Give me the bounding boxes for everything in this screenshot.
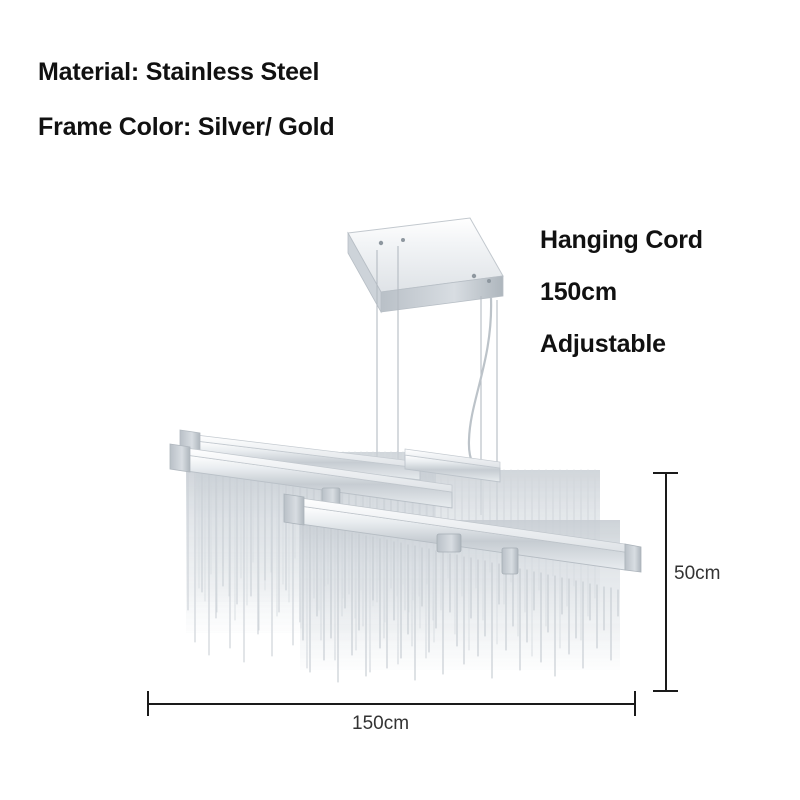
chrome-rail-mid bbox=[170, 444, 452, 522]
frame-color-spec-text: Frame Color: Silver/ Gold bbox=[38, 113, 334, 142]
crystal-curtain-right-back bbox=[410, 470, 600, 656]
rail-connector-block-mid bbox=[322, 488, 340, 522]
power-cord bbox=[469, 298, 491, 476]
product-image-canvas: Material: Stainless Steel Frame Color: S… bbox=[0, 0, 800, 800]
hanging-cord-label-line2: 150cm bbox=[540, 278, 617, 307]
hanging-cord-label-line3: Adjustable bbox=[540, 330, 666, 359]
rail-end-cap-right-front bbox=[625, 544, 641, 572]
width-dimension-label: 150cm bbox=[352, 713, 409, 735]
width-dimension-cap-left bbox=[147, 691, 149, 716]
width-dimension-cap-right bbox=[634, 691, 636, 716]
width-dimension-line bbox=[147, 703, 636, 705]
chrome-rail-upper-right bbox=[405, 449, 500, 482]
ceiling-canopy bbox=[348, 218, 503, 312]
rail-end-cap-left-back bbox=[180, 430, 200, 455]
crystal-curtain-front bbox=[300, 520, 620, 682]
chrome-rail-front bbox=[284, 494, 641, 574]
chrome-rail-back bbox=[180, 430, 420, 480]
hanging-cord-label-line1: Hanging Cord bbox=[540, 226, 703, 255]
rail-end-cap-left-front bbox=[284, 494, 304, 525]
height-dimension-cap-bottom bbox=[653, 690, 678, 692]
height-dimension-cap-top bbox=[653, 472, 678, 474]
material-spec-text: Material: Stainless Steel bbox=[38, 58, 319, 87]
rail-connector-block-front-2 bbox=[502, 548, 518, 574]
suspension-cables bbox=[377, 246, 497, 530]
crystal-curtain-back bbox=[196, 452, 410, 630]
rail-end-cap-left-mid bbox=[170, 444, 190, 472]
height-dimension-line bbox=[665, 472, 667, 691]
crystal-curtain-middle bbox=[186, 468, 436, 672]
canopy-fasteners bbox=[379, 238, 491, 283]
height-dimension-label: 50cm bbox=[674, 563, 720, 585]
rail-connector-block-front bbox=[437, 534, 461, 552]
